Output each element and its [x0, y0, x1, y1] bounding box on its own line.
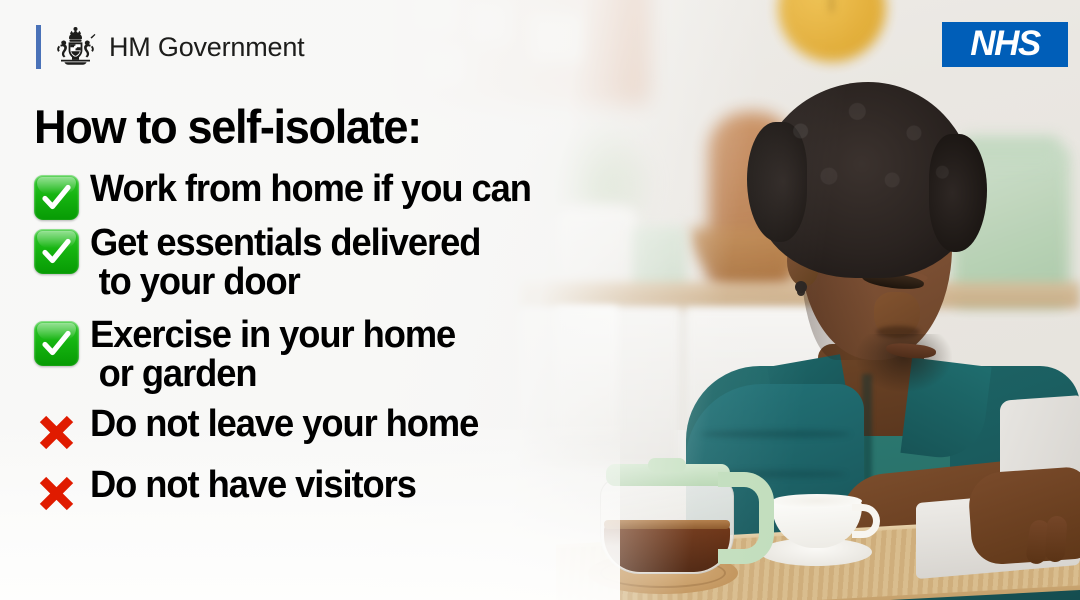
list-item-text: Do not leave your home [90, 405, 478, 444]
red-cross-icon [34, 410, 79, 455]
list-item: Exercise in your home or garden [34, 316, 674, 394]
list-item-icon [34, 316, 90, 366]
list-item-icon [34, 170, 90, 220]
list-item-icon [34, 466, 90, 516]
hm-government-label: HM Government [109, 32, 304, 63]
list-item-text: Do not have visitors [90, 466, 416, 505]
hm-government-blue-bar [36, 25, 41, 69]
hm-government-logo: HM Government [36, 25, 304, 69]
list-item-line2: to your door [90, 263, 480, 302]
list-item: Do not have visitors [34, 466, 674, 516]
list-item-text: Get essentials delivered to your door [90, 224, 480, 302]
green-check-icon [34, 229, 79, 274]
self-isolate-checklist: Work from home if you can Get essentials… [34, 170, 674, 520]
poster-content: HM Government NHS How to self-isolate: W… [0, 0, 1080, 600]
red-cross-icon [34, 471, 79, 516]
nhs-label: NHS [970, 26, 1039, 61]
green-check-icon [34, 175, 79, 220]
list-item-icon [34, 224, 90, 274]
list-item: Get essentials delivered to your door [34, 224, 674, 302]
green-check-icon [34, 321, 79, 366]
self-isolate-poster: HM Government NHS How to self-isolate: W… [0, 0, 1080, 600]
list-item-line2: or garden [90, 355, 455, 394]
list-item-line1: Work from home if you can [90, 168, 531, 210]
nhs-logo: NHS [942, 22, 1068, 67]
list-item-icon [34, 405, 90, 455]
list-item-line1: Get essentials delivered [90, 222, 480, 264]
list-item: Work from home if you can [34, 170, 674, 220]
list-item: Do not leave your home [34, 405, 674, 455]
list-item-line1: Exercise in your home [90, 314, 455, 356]
list-item-text: Work from home if you can [90, 170, 531, 209]
list-item-text: Exercise in your home or garden [90, 316, 455, 394]
list-item-line1: Do not leave your home [90, 403, 478, 445]
list-item-line1: Do not have visitors [90, 464, 416, 506]
page-title: How to self-isolate: [34, 99, 421, 154]
royal-coat-of-arms-icon [52, 25, 99, 69]
